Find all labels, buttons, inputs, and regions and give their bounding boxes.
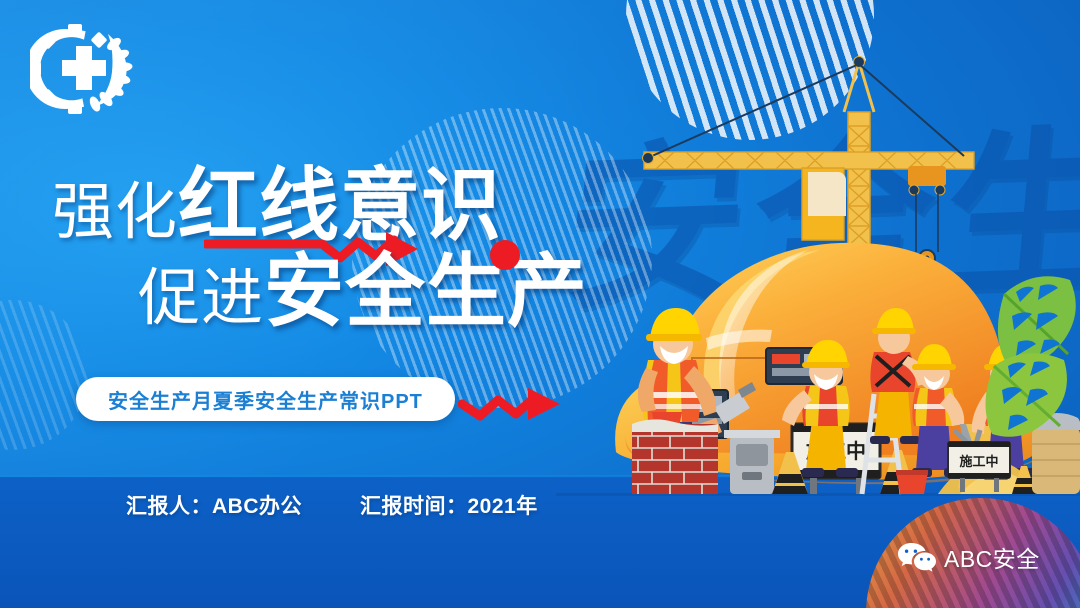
meta-row: 汇报人：ABC办公 汇报时间：2021年 [126, 490, 538, 520]
title-block: 强化红线意识 促进安全生产 [46, 166, 646, 332]
wechat-watermark-label: ABC安全 [944, 540, 1040, 574]
wechat-watermark-badge: ABC安全 [898, 540, 1040, 574]
brick-wall [632, 419, 718, 494]
safety-production-emblem-icon [30, 24, 138, 114]
slide-canvas: 安全生产 [0, 0, 1080, 608]
monstera-leaf-icon [985, 276, 1075, 437]
cement-mixer [724, 430, 780, 494]
wechat-icon [898, 541, 936, 573]
title-line-1-bold: 红线意识 [178, 166, 502, 246]
monstera-leaf-decoration [978, 248, 1080, 448]
cement-bucket [896, 470, 928, 494]
title-line-2-thin: 促进 [138, 268, 264, 330]
title-line-2: 促进安全生产 [138, 252, 646, 332]
title-line-2-bold: 安全生产 [264, 252, 588, 332]
construction-sign-small-text: 施工中 [959, 454, 998, 469]
title-line-1: 强化红线意识 [52, 166, 646, 246]
title-line-1-thin: 强化 [52, 182, 178, 244]
presenter-label: 汇报人：ABC办公 [126, 490, 302, 520]
date-label: 汇报时间：2021年 [360, 490, 538, 520]
red-dot-accent [490, 240, 520, 270]
subtitle-text: 安全生产月夏季安全生产常识PPT [108, 385, 423, 414]
safety-production-emblem [30, 24, 138, 114]
subtitle-pill: 安全生产月夏季安全生产常识PPT [76, 377, 455, 421]
